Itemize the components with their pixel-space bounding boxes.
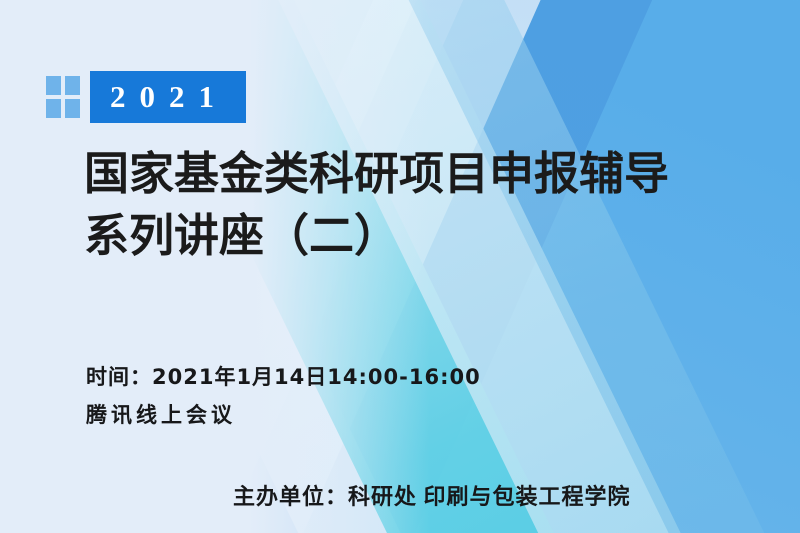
organizer-line: 主办单位：科研处 印刷与包装工程学院 (233, 479, 631, 511)
poster-content: 2021 国家基金类科研项目申报辅导 系列讲座（二） 时间：2021年1月14日… (0, 0, 800, 533)
event-time-line: 时间：2021年1月14日14:00-16:00 (86, 358, 481, 396)
year-badge-row: 2021 (46, 71, 246, 123)
grid-square-bottom-right (65, 99, 80, 118)
grid-square-top-left (46, 76, 61, 95)
grid-square-top-right (65, 76, 80, 95)
poster-canvas: 2021 国家基金类科研项目申报辅导 系列讲座（二） 时间：2021年1月14日… (0, 0, 800, 533)
grid-square-bottom-left (46, 99, 61, 118)
event-venue-line: 腾讯线上会议 (86, 396, 481, 434)
grid-2x2-icon (46, 76, 80, 118)
year-badge: 2021 (90, 71, 246, 123)
poster-title: 国家基金类科研项目申报辅导 系列讲座（二） (84, 143, 669, 267)
event-meta: 时间：2021年1月14日14:00-16:00 腾讯线上会议 (86, 358, 481, 434)
